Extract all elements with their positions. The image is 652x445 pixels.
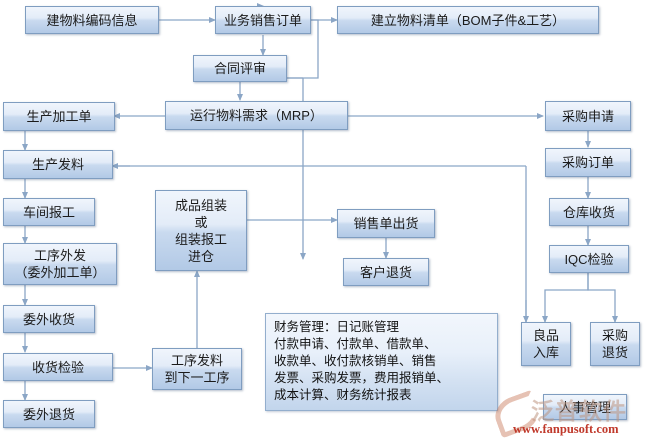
flowchart-canvas: 建物料编码信息 业务销售订单 建立物料清单（BOM子件&工艺） 合同评审 运行物…: [0, 0, 652, 445]
node-assembly[interactable]: 成品组装 或 组装报工 进仓: [155, 190, 247, 271]
node-production-issue[interactable]: 生产发料: [3, 150, 113, 179]
node-warehouse-receipt[interactable]: 仓库收货: [549, 198, 629, 226]
node-outsourcing[interactable]: 工序外发 （委外加工单）: [3, 243, 117, 285]
node-customer-return[interactable]: 客户退货: [343, 258, 429, 286]
node-iqc[interactable]: IQC检验: [549, 245, 629, 273]
watermark-url: www.fanpusoft.com: [513, 422, 619, 437]
node-bom[interactable]: 建立物料清单（BOM子件&工艺）: [337, 6, 599, 34]
node-outsource-return[interactable]: 委外退货: [3, 400, 95, 428]
edge-iqc-to-goodstock: [545, 273, 588, 322]
node-good-stock[interactable]: 良品 入库: [521, 322, 571, 366]
node-production-order[interactable]: 生产加工单: [3, 102, 115, 131]
node-sales-delivery[interactable]: 销售单出货: [337, 209, 435, 238]
node-hr-management[interactable]: 人事管理: [543, 394, 627, 420]
node-purchase-return[interactable]: 采购 退货: [590, 322, 640, 366]
node-material-code[interactable]: 建物料编码信息: [25, 6, 159, 34]
brand-logo-icon: [490, 390, 544, 439]
finance-note-box: 财务管理：日记账管理 付款申请、付款单、借款单、 收款单、收付款核销单、销售 发…: [265, 313, 498, 411]
node-outsource-receipt[interactable]: 委外收货: [3, 305, 95, 333]
node-receipt-inspection[interactable]: 收货检验: [3, 353, 113, 381]
node-purchase-order[interactable]: 采购订单: [545, 148, 631, 177]
node-sales-order[interactable]: 业务销售订单: [215, 6, 311, 34]
node-contract-review[interactable]: 合同评审: [193, 55, 287, 82]
node-purchase-request[interactable]: 采购申请: [545, 101, 631, 131]
edge-iqc-to-purchasereturn: [588, 273, 615, 322]
node-mrp[interactable]: 运行物料需求（MRP）: [165, 101, 348, 130]
node-process-issue[interactable]: 工序发料 到下一工序: [152, 348, 242, 390]
node-workshop-report[interactable]: 车间报工: [3, 198, 95, 226]
